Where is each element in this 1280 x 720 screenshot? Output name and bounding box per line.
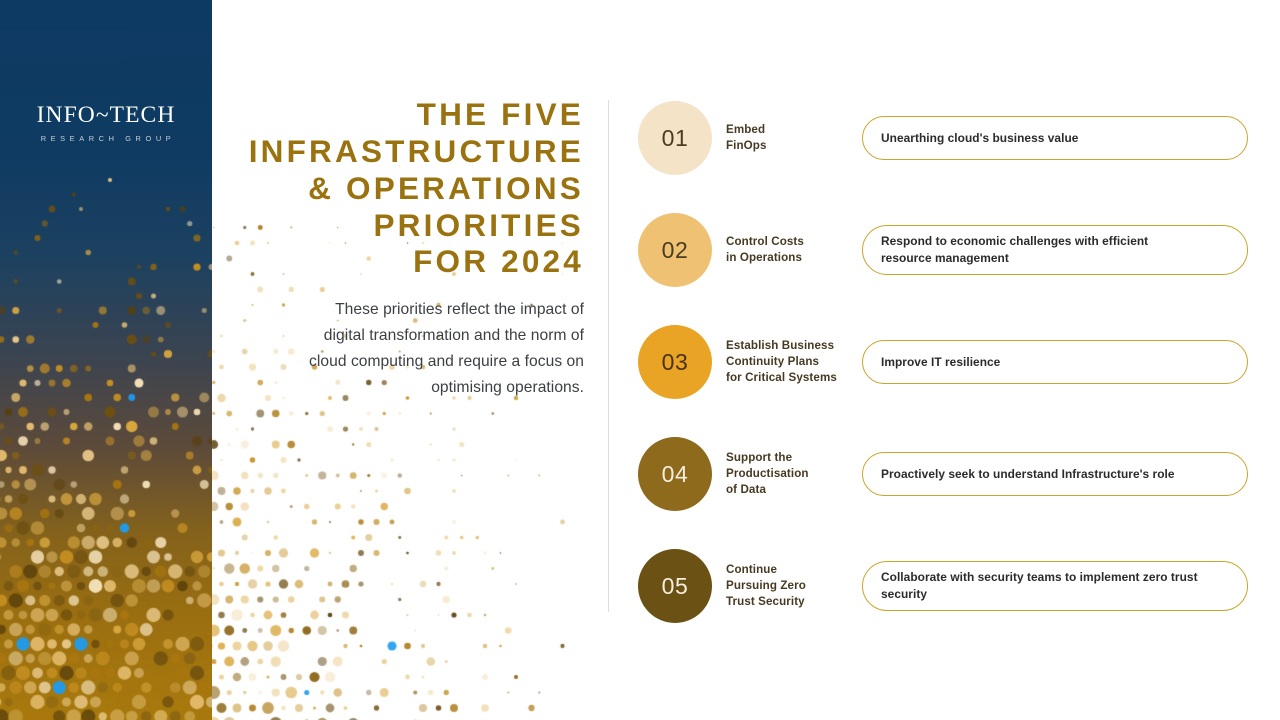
priority-detail-pill: Proactively seek to understand Infrastru… xyxy=(862,452,1248,496)
priority-number-badge: 03 xyxy=(638,325,712,399)
title-block: THE FIVE INFRASTRUCTURE & OPERATIONS PRI… xyxy=(232,96,584,401)
priority-number-badge: 04 xyxy=(638,437,712,511)
priority-label: Support the Productisation of Data xyxy=(726,450,844,497)
priority-row: 02Control Costs in OperationsRespond to … xyxy=(638,208,1248,292)
vertical-divider xyxy=(608,100,609,612)
slide-canvas: INFO~TECH RESEARCH GROUP THE FIVE INFRAS… xyxy=(0,0,1280,720)
priority-detail-text: Improve IT resilience xyxy=(881,354,1000,371)
priority-number-badge: 02 xyxy=(638,213,712,287)
priority-label: Embed FinOps xyxy=(726,122,844,154)
logo-wordmark: INFO~TECH xyxy=(0,104,212,128)
logo: INFO~TECH RESEARCH GROUP xyxy=(0,104,212,142)
priority-detail-pill: Improve IT resilience xyxy=(862,340,1248,384)
priority-detail-text: Proactively seek to understand Infrastru… xyxy=(881,466,1175,483)
priority-row: 03Establish Business Continuity Plans fo… xyxy=(638,320,1248,404)
priority-row: 05Continue Pursuing Zero Trust SecurityC… xyxy=(638,544,1248,628)
priority-detail-pill: Collaborate with security teams to imple… xyxy=(862,561,1248,611)
priority-detail-text: Unearthing cloud's business value xyxy=(881,130,1078,147)
priority-detail-text: Respond to economic challenges with effi… xyxy=(881,233,1148,267)
priority-row: 01Embed FinOpsUnearthing cloud's busines… xyxy=(638,96,1248,180)
priority-detail-pill: Respond to economic challenges with effi… xyxy=(862,225,1248,275)
priority-label: Control Costs in Operations xyxy=(726,234,844,266)
page-title: THE FIVE INFRASTRUCTURE & OPERATIONS PRI… xyxy=(232,96,584,280)
priority-label: Establish Business Continuity Plans for … xyxy=(726,338,844,385)
priority-detail-text: Collaborate with security teams to imple… xyxy=(881,569,1229,603)
page-subtitle: These priorities reflect the impact of d… xyxy=(232,297,584,401)
priority-number-badge: 05 xyxy=(638,549,712,623)
logo-tagline: RESEARCH GROUP xyxy=(0,135,212,142)
priority-number-badge: 01 xyxy=(638,101,712,175)
priority-row: 04Support the Productisation of DataProa… xyxy=(638,432,1248,516)
priority-label: Continue Pursuing Zero Trust Security xyxy=(726,562,844,609)
priority-detail-pill: Unearthing cloud's business value xyxy=(862,116,1248,160)
